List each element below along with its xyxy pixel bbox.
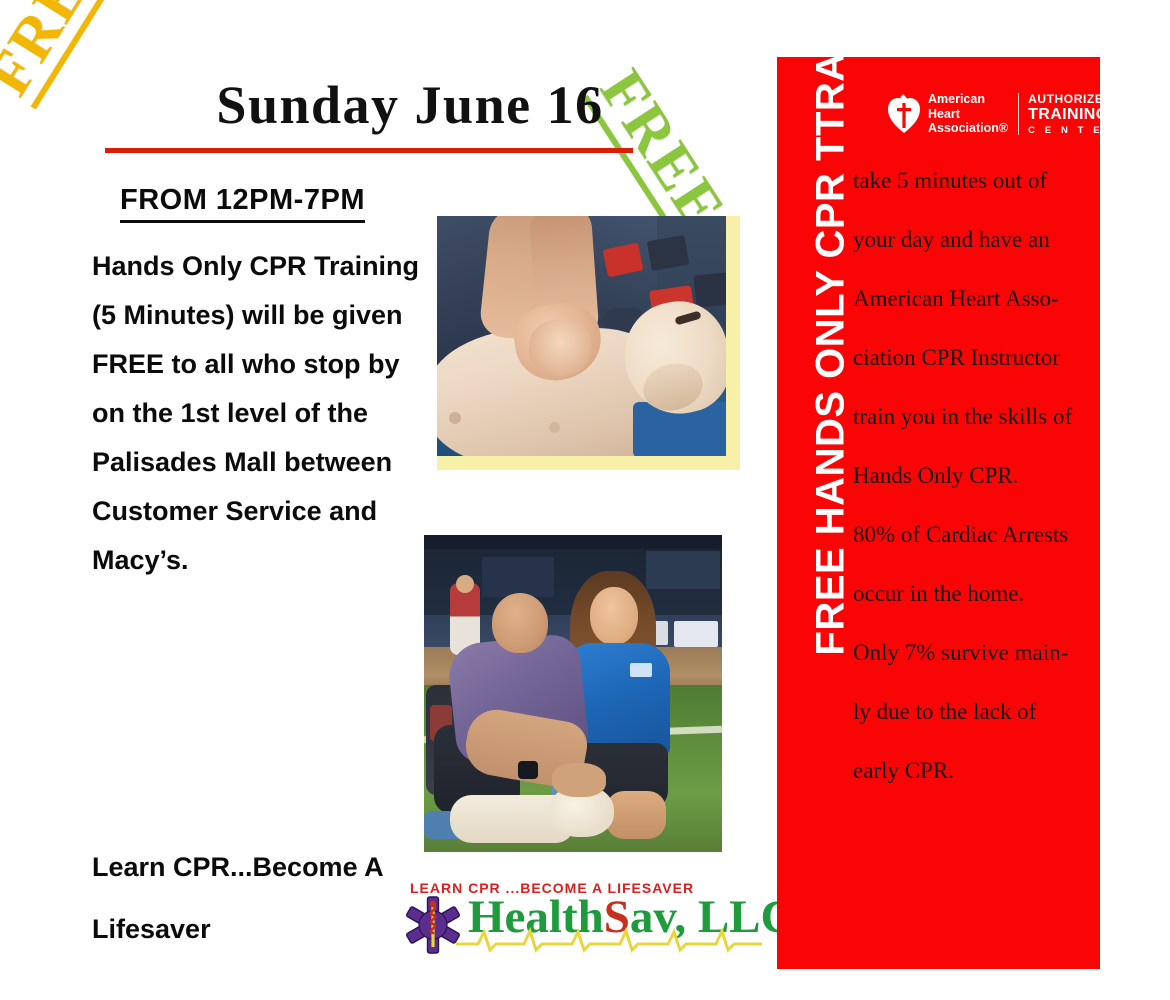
free-stamp-left: FREE bbox=[0, 0, 128, 110]
ekg-line-icon bbox=[456, 924, 762, 954]
photo-frame-field-demo bbox=[424, 535, 722, 852]
red-panel-line: train you in the skills of bbox=[853, 387, 1089, 446]
photo2-ad-sign-3 bbox=[674, 621, 718, 647]
photo1-floor-mat-dark-2 bbox=[693, 272, 726, 307]
authorized-training-center-mark: AUTHORIZED TRAINING C E N T E R bbox=[1028, 92, 1120, 137]
star-of-life-icon bbox=[402, 896, 464, 954]
photo1-manikin-detail-1 bbox=[449, 412, 461, 424]
atc-line-1: AUTHORIZED bbox=[1028, 92, 1120, 106]
event-slogan: Learn CPR...Become A Lifesaver bbox=[92, 836, 422, 960]
event-hours: FROM 12PM-7PM bbox=[120, 184, 365, 223]
red-panel-line: American Heart Asso- bbox=[853, 269, 1089, 328]
healthsav-logo: LEARN CPR ...BECOME A LIFESAVER HealthSa… bbox=[402, 880, 762, 956]
red-info-panel: FREE HANDS ONLY CPR TTRAINING American H… bbox=[777, 57, 1100, 969]
photo-frame-compressions bbox=[437, 216, 740, 470]
photo2-instructor-hands bbox=[552, 763, 606, 797]
aha-wordmark: American Heart Association® bbox=[928, 92, 1008, 136]
red-panel-body-text: take 5 minutes out ofyour day and have a… bbox=[853, 151, 1089, 800]
red-panel-line: take 5 minutes out of bbox=[853, 151, 1089, 210]
american-heart-association-logo: American Heart Association® AUTHORIZED T… bbox=[887, 85, 1077, 143]
photo2-banner-left bbox=[482, 557, 554, 597]
heart-torch-icon bbox=[887, 94, 921, 134]
red-panel-line: 80% of Cardiac Arrests bbox=[853, 505, 1089, 564]
photo-compressions-on-manikin bbox=[437, 216, 726, 456]
page-title: Sunday June 16 bbox=[170, 74, 650, 136]
aha-line-1: American bbox=[928, 92, 1008, 107]
free-stamp-left-label: FREE bbox=[0, 0, 123, 107]
photo2-woman-face bbox=[590, 587, 638, 645]
aha-line-2: Heart bbox=[928, 107, 1008, 122]
photo2-banner-right bbox=[646, 551, 720, 589]
red-panel-line: your day and have an bbox=[853, 210, 1089, 269]
title-divider bbox=[105, 148, 633, 153]
red-panel-line: ciation CPR Instructor bbox=[853, 328, 1089, 387]
red-panel-line: early CPR. bbox=[853, 741, 1089, 800]
photo2-woman-leg bbox=[606, 791, 666, 839]
atc-line-2: TRAINING bbox=[1028, 106, 1120, 124]
atc-line-3: C E N T E R bbox=[1028, 124, 1120, 137]
photo1-manikin-detail-2 bbox=[549, 422, 560, 433]
red-panel-line: Only 7% survive main- bbox=[853, 623, 1089, 682]
event-description: Hands Only CPR Training (5 Minutes) will… bbox=[92, 242, 422, 585]
photo2-instructor-head bbox=[492, 593, 548, 653]
cpr-event-flyer: FREE FREE Sunday June 16 FROM 12PM-7PM H… bbox=[0, 0, 1170, 1000]
photo2-background-person-head bbox=[456, 575, 474, 593]
photo-instructor-field-demo bbox=[424, 535, 722, 852]
red-panel-line: Hands Only CPR. bbox=[853, 446, 1089, 505]
aha-line-3: Association® bbox=[928, 121, 1008, 136]
photo2-woman-shirt-logo bbox=[630, 663, 652, 677]
red-panel-line: occur in the home. bbox=[853, 564, 1089, 623]
red-panel-line: ly due to the lack of bbox=[853, 682, 1089, 741]
aha-logo-divider bbox=[1018, 93, 1019, 135]
vertical-banner-title: FREE HANDS ONLY CPR TTRAINING bbox=[809, 56, 854, 656]
photo2-instructor-watch bbox=[518, 761, 538, 779]
